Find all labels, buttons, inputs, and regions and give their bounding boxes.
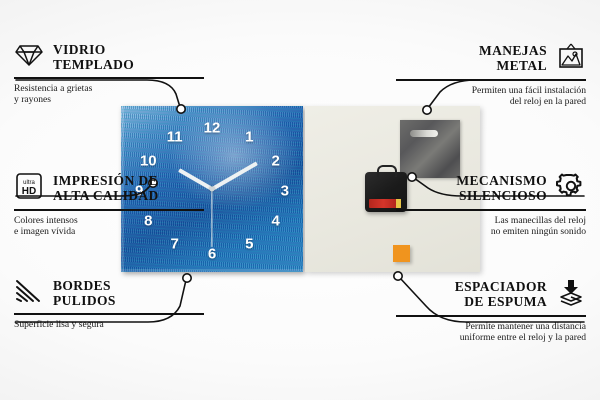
clock-center-cap: [210, 187, 215, 192]
callout-desc-line2: del reloj en la pared: [396, 96, 586, 108]
callout-title-line1: VIDRIO: [53, 43, 134, 58]
callout-title-line2: DE ESPUMA: [455, 295, 547, 310]
callout-desc-line1: Permite mantener una distancia: [396, 321, 586, 333]
callout-desc-line1: Resistencia a grietas: [14, 83, 204, 95]
callout-title-line2: TEMPLADO: [53, 58, 134, 73]
hanger-plate: [400, 120, 460, 178]
callout-foam-spacer: ESPACIADOR DE ESPUMA Permite mantener un…: [396, 278, 586, 344]
callout-tempered-glass: VIDRIO TEMPLADO Resistencia a grietas y …: [14, 42, 204, 106]
callout-rule: [14, 77, 204, 79]
callout-rule: [396, 209, 586, 211]
callout-title-line1: IMPRESIÓN DE: [53, 174, 159, 189]
callout-title-line1: MANEJAS: [479, 44, 547, 59]
clock-numeral-7: 7: [171, 235, 179, 252]
callout-title-line1: BORDES: [53, 279, 116, 294]
callout-silent-mechanism: MECANISMO SILENCIOSO Las manecillas del …: [396, 172, 586, 238]
bevel-lines-icon: [14, 278, 44, 309]
clock-numeral-10: 10: [140, 152, 157, 169]
callout-print-quality: ultra HD IMPRESIÓN DE ALTA CALIDAD Color…: [14, 172, 204, 238]
clock-numeral-5: 5: [245, 235, 253, 252]
callout-desc-line2: e imagen vívida: [14, 226, 204, 238]
callout-desc-line1: Permiten una fácil instalación: [396, 85, 586, 97]
hanger-slot: [410, 130, 438, 137]
diamond-icon: [14, 42, 44, 73]
arrow-down-foam-icon: [556, 278, 586, 311]
clock-numeral-12: 12: [204, 119, 221, 136]
clock-second-hand: [211, 189, 212, 247]
framed-picture-icon: [556, 42, 586, 75]
callout-metal-handles: MANEJAS METAL Permiten una fácil instala…: [396, 42, 586, 108]
svg-text:HD: HD: [22, 186, 36, 197]
callout-desc-line2: no emiten ningún sonido: [396, 226, 586, 238]
gear-icon: [556, 172, 586, 205]
mechanism-hook: [377, 165, 397, 177]
callout-desc-line1: Superficie lisa y segura: [14, 319, 204, 331]
callout-desc-line1: Colores intensos: [14, 215, 204, 227]
clock-numeral-4: 4: [272, 212, 280, 229]
foam-spacer: [393, 245, 410, 262]
callout-rule: [14, 313, 204, 315]
clock-numeral-3: 3: [281, 182, 289, 199]
clock-numeral-11: 11: [167, 128, 183, 145]
callout-title-line2: ALTA CALIDAD: [53, 189, 159, 204]
infographic-canvas: 12 1 2 3 4 5 6 7 8 9 10 11: [0, 0, 600, 400]
callout-title-line1: ESPACIADOR: [455, 280, 547, 295]
callout-desc-line2: uniforme entre el reloj y la pared: [396, 332, 586, 344]
clock-numeral-2: 2: [272, 152, 280, 169]
callout-rule: [396, 79, 586, 81]
clock-numeral-6: 6: [208, 245, 216, 262]
callout-rule: [396, 315, 586, 317]
callout-polished-edges: BORDES PULIDOS Superficie lisa y segura: [14, 278, 204, 330]
callout-rule: [14, 209, 204, 211]
callout-desc-line1: Las manecillas del reloj: [396, 215, 586, 227]
callout-title-line2: SILENCIOSO: [456, 189, 547, 204]
clock-numeral-1: 1: [245, 128, 253, 145]
callout-title-line1: MECANISMO: [456, 174, 547, 189]
callout-desc-line2: y rayones: [14, 94, 204, 106]
ultra-hd-badge-icon: ultra HD: [14, 172, 44, 205]
callout-title-line2: METAL: [479, 59, 547, 74]
clock-minute-hand: [211, 161, 258, 190]
callout-title-line2: PULIDOS: [53, 294, 116, 309]
